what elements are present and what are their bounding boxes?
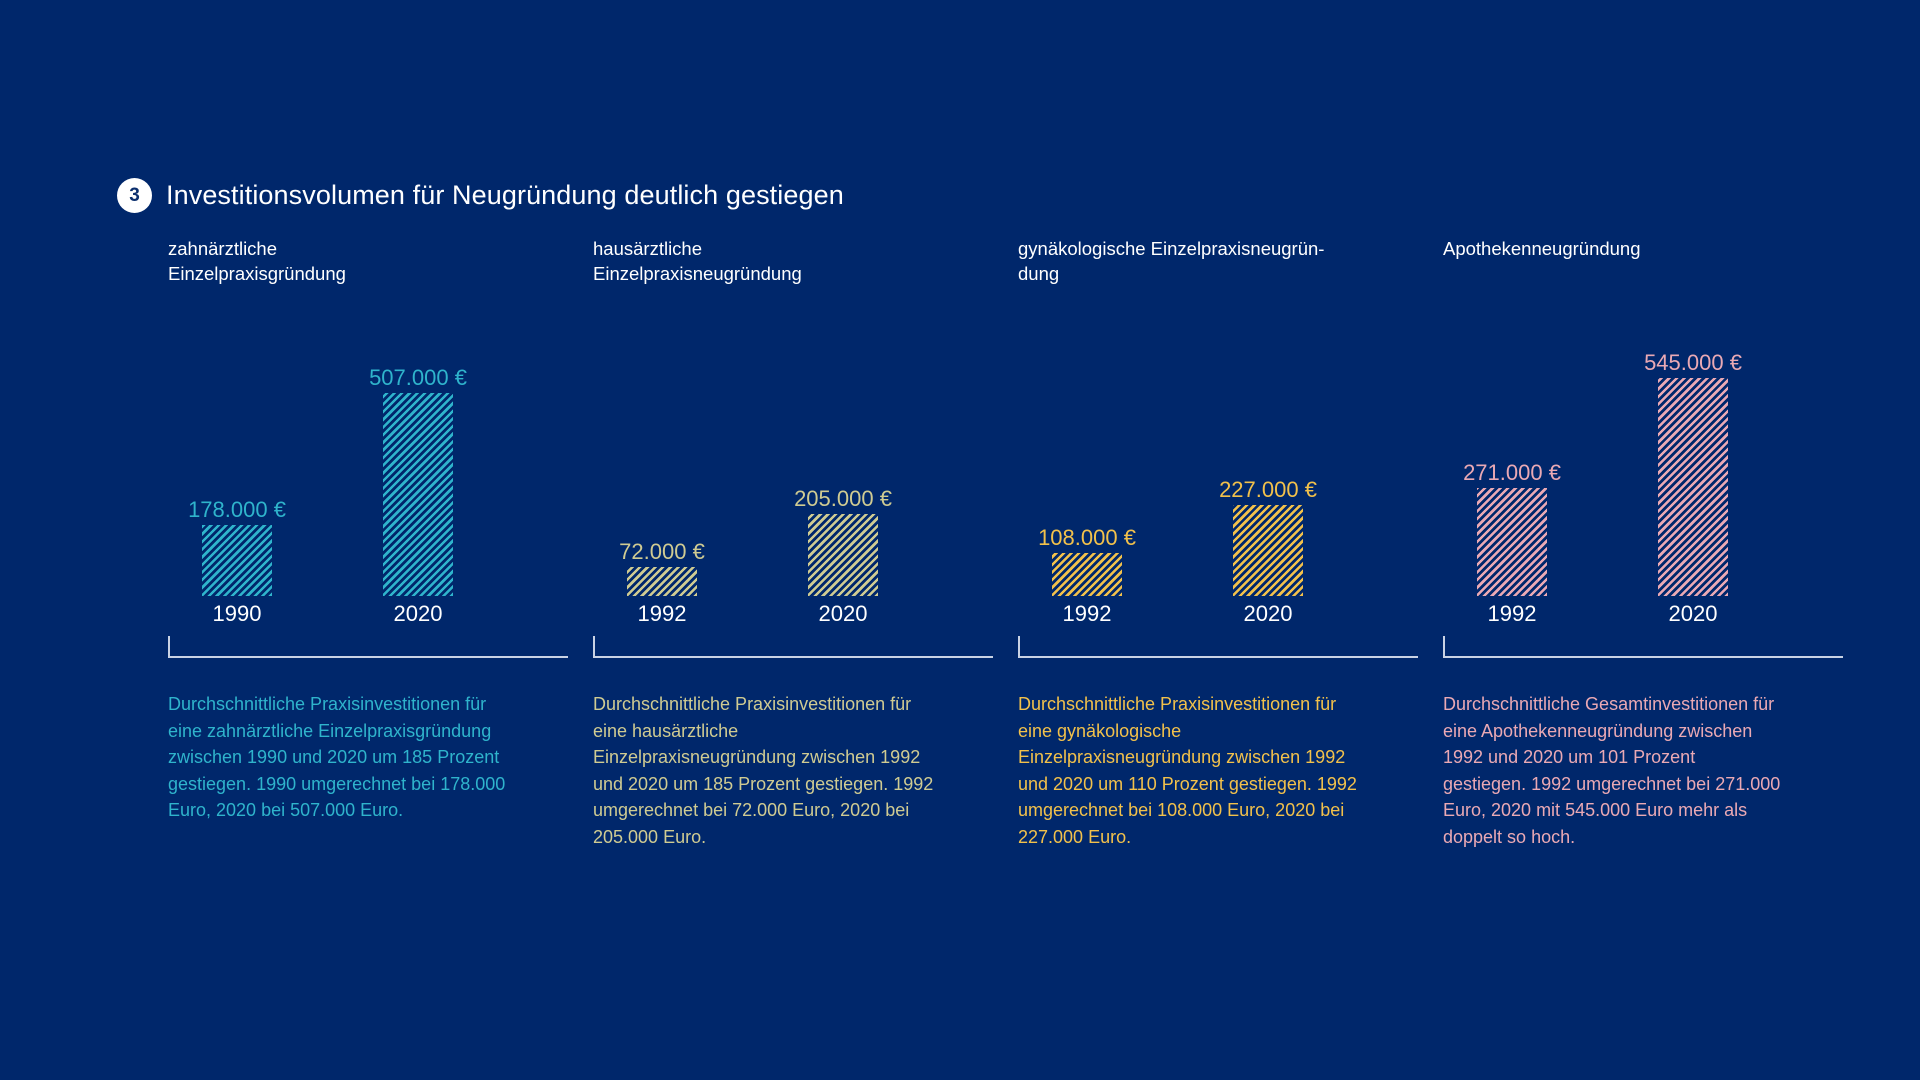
bar-year-label: 1992 bbox=[1063, 603, 1112, 625]
bar-value-label: 507.000 € bbox=[369, 367, 467, 389]
axis-x-line bbox=[593, 656, 993, 658]
chart-axis bbox=[593, 636, 993, 658]
bar-rect bbox=[202, 525, 272, 596]
bar-group-1992: 72.000 € 1992 bbox=[627, 567, 697, 596]
bar-value-label: 545.000 € bbox=[1644, 352, 1742, 374]
column-caption: Durchschnittliche Praxisinvestitionen fü… bbox=[593, 691, 943, 850]
bar-rect bbox=[1052, 553, 1122, 596]
bar-group-2020: 507.000 € 2020 bbox=[383, 393, 453, 596]
bar-plot: 271.000 € 1992 545.000 € 2020 bbox=[1443, 326, 1843, 636]
chart-axis bbox=[168, 636, 568, 658]
bar-group-2020: 205.000 € 2020 bbox=[808, 514, 878, 596]
bar-group-1990: 178.000 € 1990 bbox=[202, 525, 272, 596]
column-caption: Durchschnittliche Praxisinvestitionen fü… bbox=[168, 691, 518, 824]
bar-group-2020: 545.000 € 2020 bbox=[1658, 378, 1728, 596]
bar-rect bbox=[808, 514, 878, 596]
bar-group-1992: 108.000 € 1992 bbox=[1052, 553, 1122, 596]
chart-column-gynaekologische: gynäkologische Einzelpraxisneugrün- dung… bbox=[1018, 236, 1438, 896]
bar-group-1992: 271.000 € 1992 bbox=[1477, 488, 1547, 596]
bar-year-label: 1990 bbox=[213, 603, 262, 625]
bar-rect bbox=[383, 393, 453, 596]
bar-rect bbox=[627, 567, 697, 596]
bar-rect bbox=[1477, 488, 1547, 596]
axis-y-tick bbox=[168, 636, 170, 658]
bar-year-label: 2020 bbox=[1669, 603, 1718, 625]
chart-axis bbox=[1443, 636, 1843, 658]
section-number-badge: 3 bbox=[117, 178, 152, 213]
axis-y-tick bbox=[593, 636, 595, 658]
chart-axis bbox=[1018, 636, 1418, 658]
column-title: hausärztliche Einzelpraxisneugründung bbox=[593, 236, 968, 286]
column-title: Apothekenneugründung bbox=[1443, 236, 1818, 261]
column-caption: Durchschnittliche Gesamtinvestitionen fü… bbox=[1443, 691, 1783, 850]
column-title: gynäkologische Einzelpraxisneugrün- dung bbox=[1018, 236, 1393, 286]
bar-value-label: 108.000 € bbox=[1038, 527, 1136, 549]
chart-column-apotheken: Apothekenneugründung 271.000 € 1992 545.… bbox=[1443, 236, 1863, 896]
bar-year-label: 2020 bbox=[819, 603, 868, 625]
axis-y-tick bbox=[1018, 636, 1020, 658]
axis-y-tick bbox=[1443, 636, 1445, 658]
bar-plot: 178.000 € 1990 507.000 € 2020 bbox=[168, 326, 568, 636]
bar-plot: 108.000 € 1992 227.000 € 2020 bbox=[1018, 326, 1418, 636]
headline-row: 3 Investitionsvolumen für Neugründung de… bbox=[117, 178, 844, 213]
bar-year-label: 1992 bbox=[1488, 603, 1537, 625]
bar-year-label: 1992 bbox=[638, 603, 687, 625]
axis-x-line bbox=[1018, 656, 1418, 658]
chart-column-zahnaerztliche: zahnärztliche Einzelpraxisgründung 178.0… bbox=[168, 236, 588, 896]
bar-group-2020: 227.000 € 2020 bbox=[1233, 505, 1303, 596]
chart-columns: zahnärztliche Einzelpraxisgründung 178.0… bbox=[168, 236, 1808, 896]
chart-column-hausaerztliche: hausärztliche Einzelpraxisneugründung 72… bbox=[593, 236, 1013, 896]
bar-value-label: 227.000 € bbox=[1219, 479, 1317, 501]
column-caption: Durchschnittliche Praxisinvestitionen fü… bbox=[1018, 691, 1368, 850]
bar-rect bbox=[1658, 378, 1728, 596]
bar-plot: 72.000 € 1992 205.000 € 2020 bbox=[593, 326, 993, 636]
bar-value-label: 271.000 € bbox=[1463, 462, 1561, 484]
bar-year-label: 2020 bbox=[394, 603, 443, 625]
bar-value-label: 72.000 € bbox=[619, 541, 705, 563]
bar-year-label: 2020 bbox=[1244, 603, 1293, 625]
bar-value-label: 205.000 € bbox=[794, 488, 892, 510]
column-title: zahnärztliche Einzelpraxisgründung bbox=[168, 236, 543, 286]
page-title: Investitionsvolumen für Neugründung deut… bbox=[166, 180, 844, 211]
bar-rect bbox=[1233, 505, 1303, 596]
axis-x-line bbox=[1443, 656, 1843, 658]
axis-x-line bbox=[168, 656, 568, 658]
bar-value-label: 178.000 € bbox=[188, 499, 286, 521]
infographic-canvas: 3 Investitionsvolumen für Neugründung de… bbox=[0, 0, 1920, 1080]
